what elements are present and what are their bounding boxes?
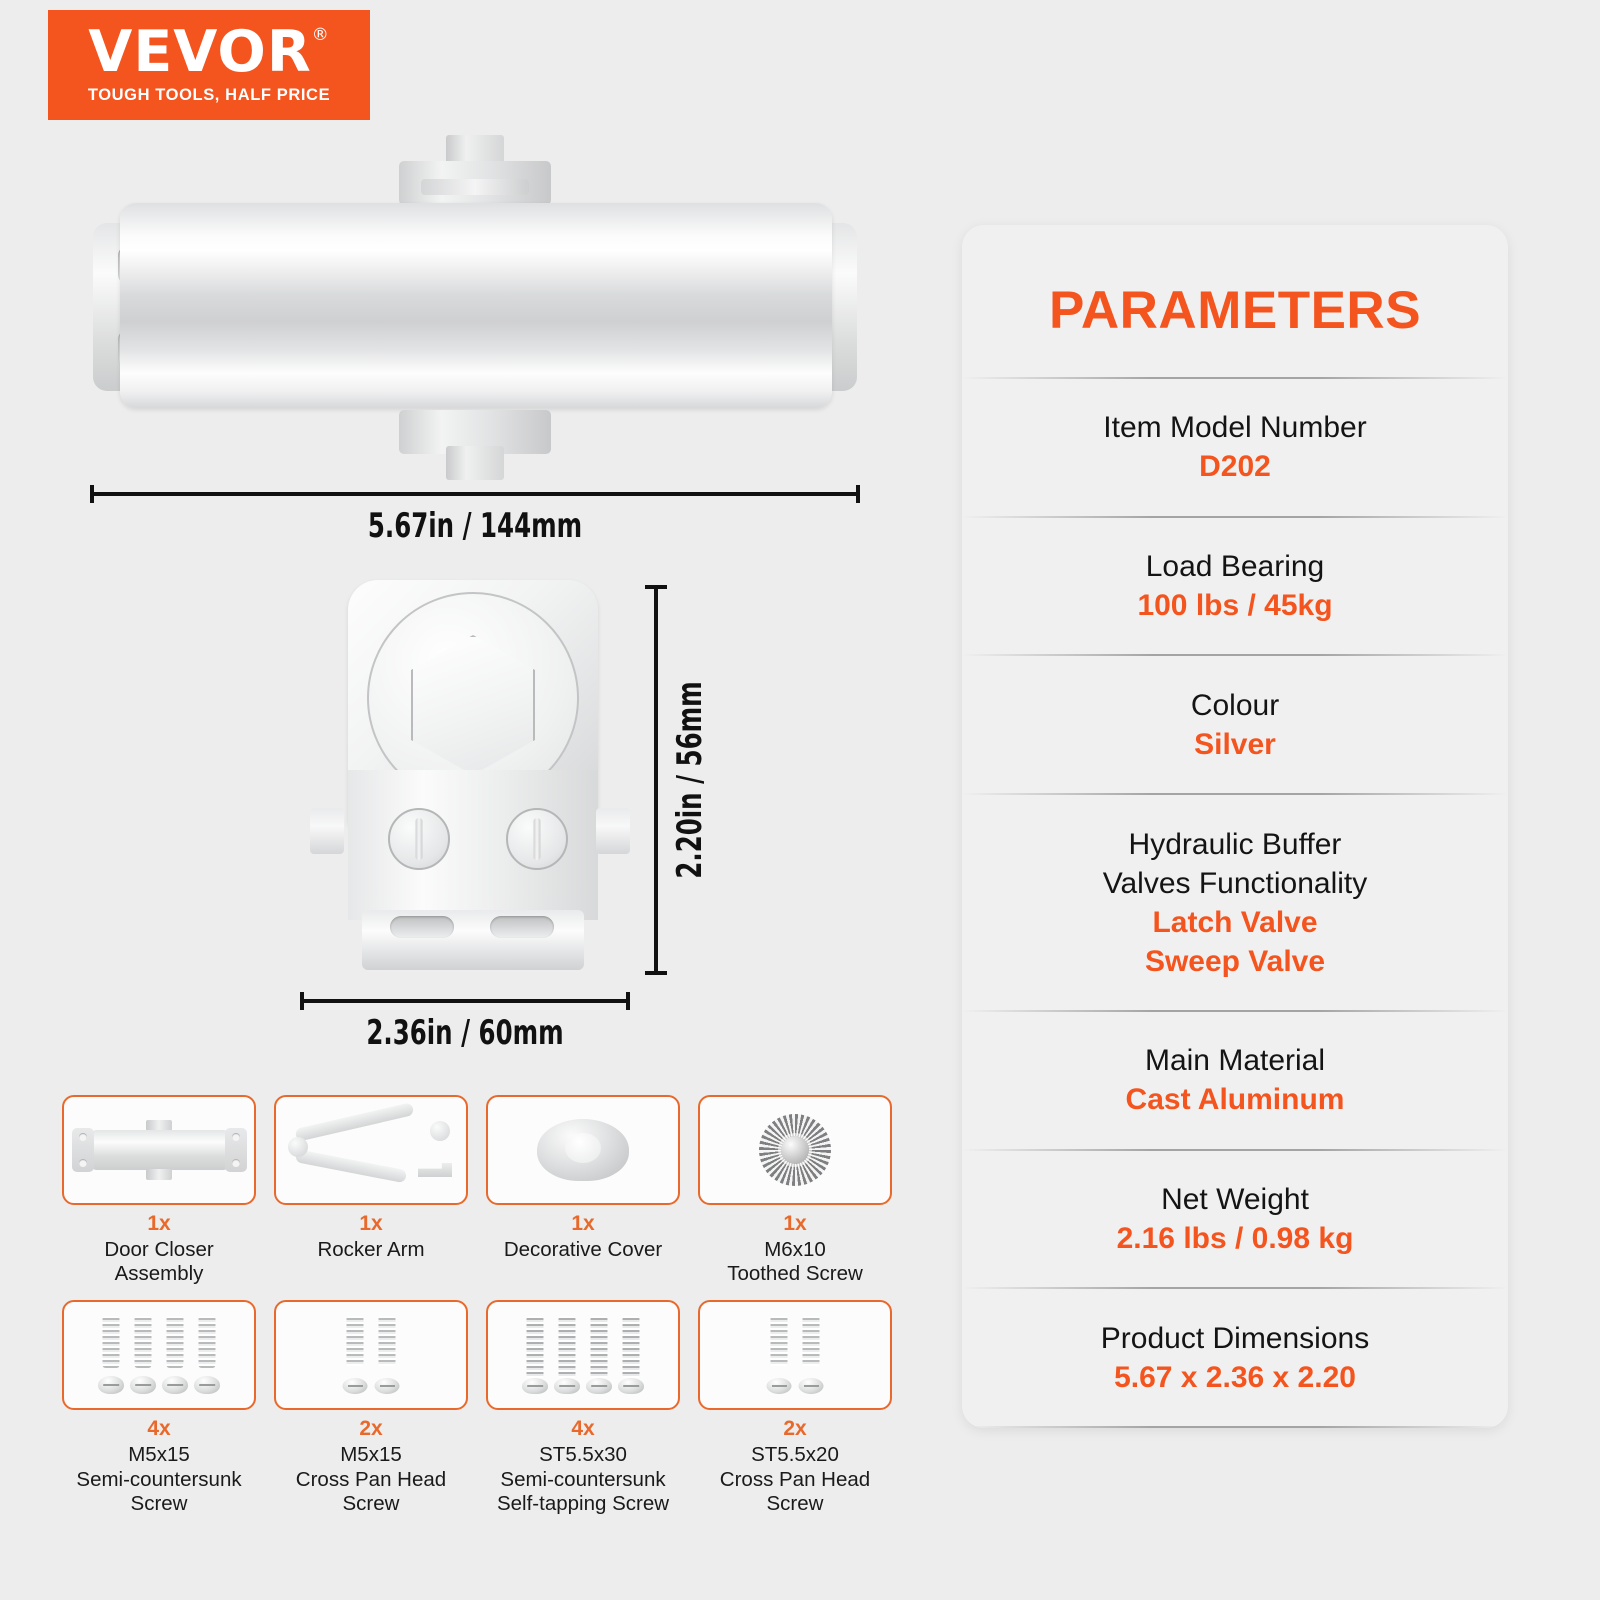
parameter-label: Main Material xyxy=(1145,1041,1325,1080)
part-thumbnail-card xyxy=(274,1095,468,1205)
dimension-label-width: 5.67in / 144mm xyxy=(167,506,783,546)
parameters-panel: PARAMETERS Item Model Number D202 Load B… xyxy=(962,225,1508,1428)
part-count: 1x xyxy=(147,1212,170,1236)
part-label: Door Closer Assembly xyxy=(62,1238,256,1286)
screw-icon xyxy=(586,1316,612,1394)
width-dimension-side-view: 2.36in / 60mm xyxy=(300,992,630,1053)
parameter-value: D202 xyxy=(1199,447,1271,486)
side-lug-right xyxy=(596,808,630,854)
screw-icon xyxy=(194,1316,220,1394)
parameter-value: 5.67 x 2.36 x 2.20 xyxy=(1114,1358,1356,1397)
part-item-rocker-arm: 1x Rocker Arm xyxy=(274,1095,468,1286)
part-item-semi-countersunk-screw: 4x M5x15Semi-countersunkScrew xyxy=(62,1300,256,1516)
part-item-decorative-cover: 1x Decorative Cover xyxy=(486,1095,680,1286)
parameters-title: PARAMETERS xyxy=(962,225,1508,377)
part-thumbnail-card xyxy=(62,1300,256,1410)
height-dimension-side-view: 2.20in / 56mm xyxy=(640,585,740,975)
part-thumbnail-card xyxy=(62,1095,256,1205)
dimension-bar xyxy=(654,585,658,975)
part-count: 1x xyxy=(571,1212,594,1236)
base-hole xyxy=(490,916,554,938)
dimension-bar xyxy=(300,999,630,1003)
part-count: 4x xyxy=(571,1417,594,1441)
part-item-door-closer-assembly: 1x Door Closer Assembly xyxy=(62,1095,256,1286)
parameter-row-main-material: Main Material Cast Aluminum xyxy=(962,1012,1508,1149)
dimension-cap-bottom xyxy=(645,971,667,975)
parameter-row-net-weight: Net Weight 2.16 lbs / 0.98 kg xyxy=(962,1151,1508,1288)
latch-valve-screw xyxy=(388,808,450,870)
width-dimension-top-view: 5.67in / 144mm xyxy=(90,485,860,546)
row-divider xyxy=(962,1426,1508,1428)
door-closer-thumb-icon xyxy=(72,1124,247,1176)
door-closer-top-view-image xyxy=(75,135,875,480)
part-count: 2x xyxy=(359,1417,382,1441)
parameter-value: 100 lbs / 45kg xyxy=(1137,586,1332,625)
part-count: 4x xyxy=(147,1417,170,1441)
toothed-screw-thumb-icon xyxy=(759,1114,831,1186)
part-item-cross-pan-head-screw-m5: 2x M5x15Cross Pan HeadScrew xyxy=(274,1300,468,1516)
screw-icon xyxy=(342,1316,368,1394)
dimension-label-height: 2.20in / 56mm xyxy=(670,681,710,878)
part-label: M5x15Semi-countersunkScrew xyxy=(76,1443,241,1516)
dimension-line xyxy=(90,485,860,501)
screw-icon xyxy=(554,1316,580,1394)
part-count: 1x xyxy=(359,1212,382,1236)
part-item-self-tapping-screw: 4x ST5.5x30Semi-countersunkSelf-tapping … xyxy=(486,1300,680,1516)
collar-top xyxy=(421,179,529,195)
screw-icon xyxy=(98,1316,124,1394)
part-count: 1x xyxy=(783,1212,806,1236)
parameter-row-item-model-number: Item Model Number D202 xyxy=(962,379,1508,516)
door-closer-side-view-image xyxy=(300,580,640,1000)
part-thumbnail-card xyxy=(698,1300,892,1410)
part-label: ST5.5x20Cross Pan HeadScrew xyxy=(720,1443,870,1516)
dimension-cap-right xyxy=(856,485,860,503)
parameter-value: Latch ValveSweep Valve xyxy=(1145,903,1325,981)
parameter-row-colour: Colour Silver xyxy=(962,656,1508,793)
dimension-line xyxy=(300,992,630,1008)
screw-icon xyxy=(798,1316,824,1394)
part-count: 2x xyxy=(783,1417,806,1441)
dimension-cap-right xyxy=(626,992,630,1010)
parameter-label: Product Dimensions xyxy=(1101,1319,1369,1358)
screw-icon xyxy=(130,1316,156,1394)
screw-icon xyxy=(766,1316,792,1394)
closer-body xyxy=(120,203,832,408)
dimension-bar xyxy=(90,492,860,496)
parameter-row-hydraulic-buffer-valves: Hydraulic BufferValves Functionality Lat… xyxy=(962,795,1508,1010)
rocker-arm-thumb-icon xyxy=(286,1119,456,1181)
part-label: M5x15Cross Pan HeadScrew xyxy=(296,1443,446,1516)
parameter-value: Cast Aluminum xyxy=(1126,1080,1345,1119)
part-label: Decorative Cover xyxy=(504,1238,662,1262)
parameter-value: 2.16 lbs / 0.98 kg xyxy=(1117,1219,1354,1258)
parameter-label: Colour xyxy=(1191,686,1279,725)
part-label: Rocker Arm xyxy=(317,1238,424,1262)
part-thumbnail-card xyxy=(698,1095,892,1205)
side-lug-left xyxy=(310,808,344,854)
screw-icon xyxy=(522,1316,548,1394)
part-thumbnail-card xyxy=(486,1300,680,1410)
included-parts-grid: 1x Door Closer Assembly 1x Rocker Arm 1x… xyxy=(62,1095,892,1516)
base-hole xyxy=(390,916,454,938)
screw-icon xyxy=(374,1316,400,1394)
parameter-label: Hydraulic BufferValves Functionality xyxy=(1103,825,1368,903)
part-item-toothed-screw: 1x M6x10Toothed Screw xyxy=(698,1095,892,1286)
product-illustration-column: 5.67in / 144mm 2.20in / 56mm 2.36in / 60… xyxy=(0,0,940,1600)
spindle-bottom xyxy=(446,446,504,480)
parameter-label: Net Weight xyxy=(1161,1180,1309,1219)
part-thumbnail-card xyxy=(486,1095,680,1205)
part-label: ST5.5x30Semi-countersunkSelf-tapping Scr… xyxy=(497,1443,669,1516)
parameter-label: Load Bearing xyxy=(1146,547,1324,586)
part-label: M6x10Toothed Screw xyxy=(727,1238,863,1286)
part-thumbnail-card xyxy=(274,1300,468,1410)
screw-icon xyxy=(618,1316,644,1394)
parameter-row-load-bearing: Load Bearing 100 lbs / 45kg xyxy=(962,518,1508,655)
parameter-row-product-dimensions: Product Dimensions 5.67 x 2.36 x 2.20 xyxy=(962,1289,1508,1426)
parameter-value: Silver xyxy=(1194,725,1276,764)
screw-icon xyxy=(162,1316,188,1394)
decorative-cover-thumb-icon xyxy=(537,1119,629,1181)
dimension-label-depth: 2.36in / 60mm xyxy=(333,1013,597,1053)
sweep-valve-screw xyxy=(506,808,568,870)
part-item-cross-pan-head-screw-st: 2x ST5.5x20Cross Pan HeadScrew xyxy=(698,1300,892,1516)
parameter-label: Item Model Number xyxy=(1103,408,1366,447)
